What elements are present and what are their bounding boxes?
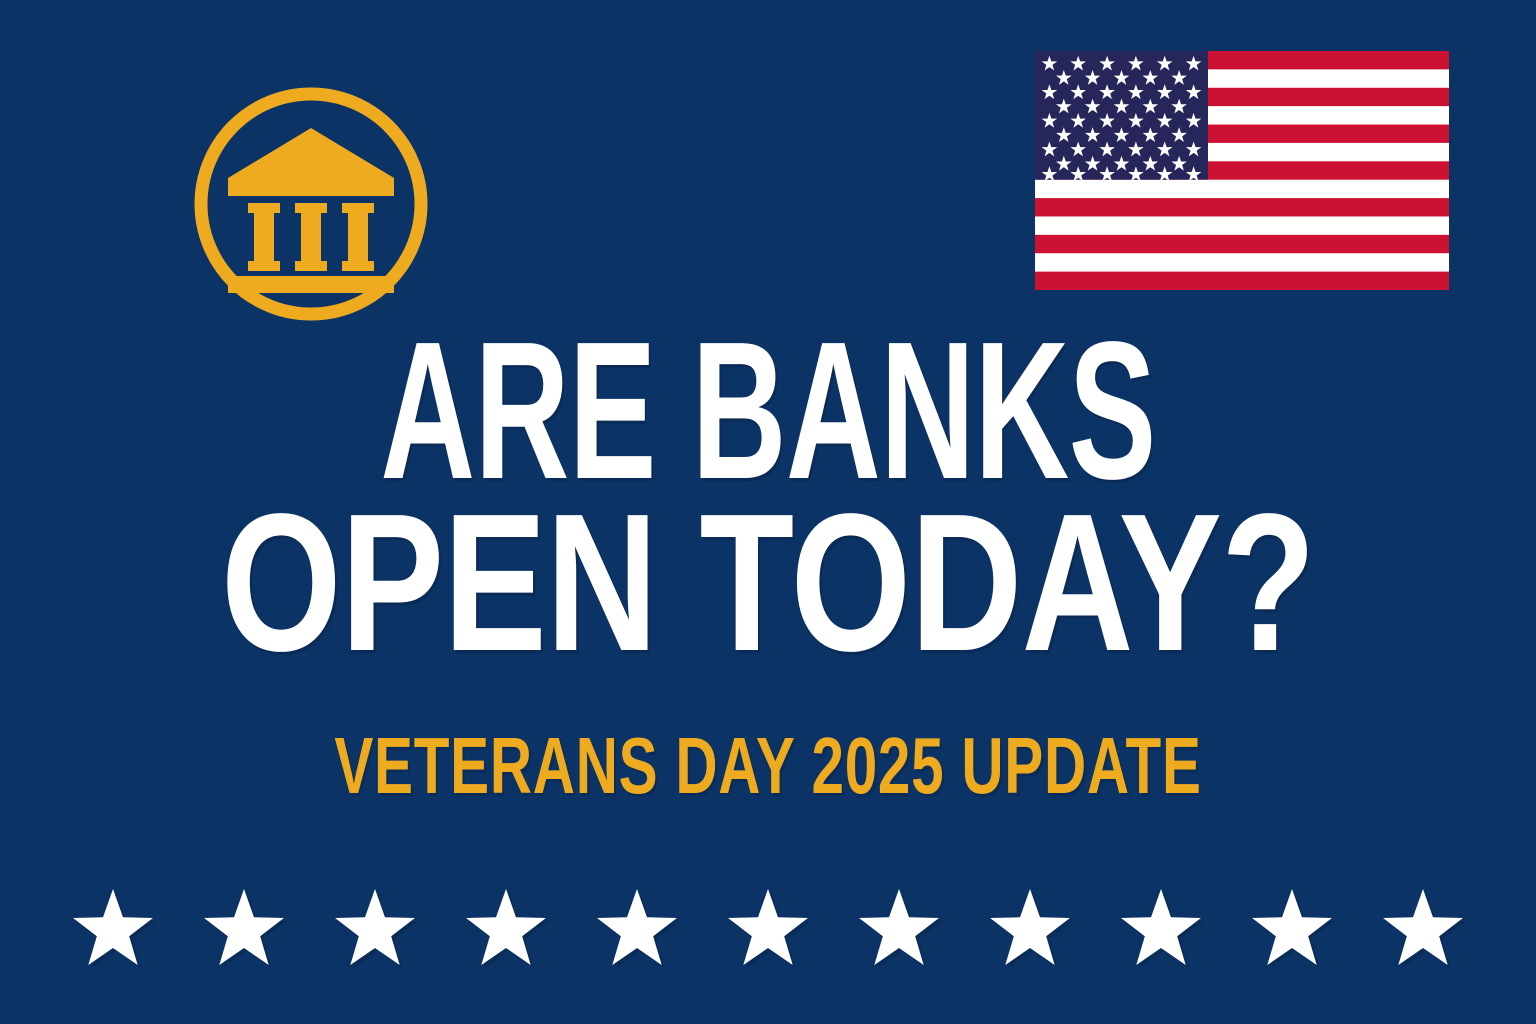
decorative-star-icon (332, 889, 418, 973)
bank-building-icon (190, 83, 432, 325)
headline-block: ARE BANKS OPEN TODAY? (0, 318, 1536, 676)
decorative-star-icon (856, 889, 942, 973)
subtitle-text: VETERANS DAY 2025 UPDATE (207, 726, 1329, 806)
decorative-star-icon (725, 889, 811, 973)
decorative-star-icon (201, 889, 287, 973)
decorative-star-icon (594, 889, 680, 973)
poster-canvas: ARE BANKS OPEN TODAY? VETERANS DAY 2025 … (0, 0, 1536, 1024)
decorative-star-icon (987, 889, 1073, 973)
decorative-star-icon (1380, 889, 1466, 973)
decorative-star-icon (463, 889, 549, 973)
star-strip (0, 876, 1536, 986)
decorative-star-icon (1118, 889, 1204, 973)
headline-line-2: OPEN TODAY? (161, 490, 1376, 676)
us-flag-icon (1035, 51, 1449, 290)
decorative-star-icon (1249, 889, 1335, 973)
decorative-star-icon (70, 889, 156, 973)
